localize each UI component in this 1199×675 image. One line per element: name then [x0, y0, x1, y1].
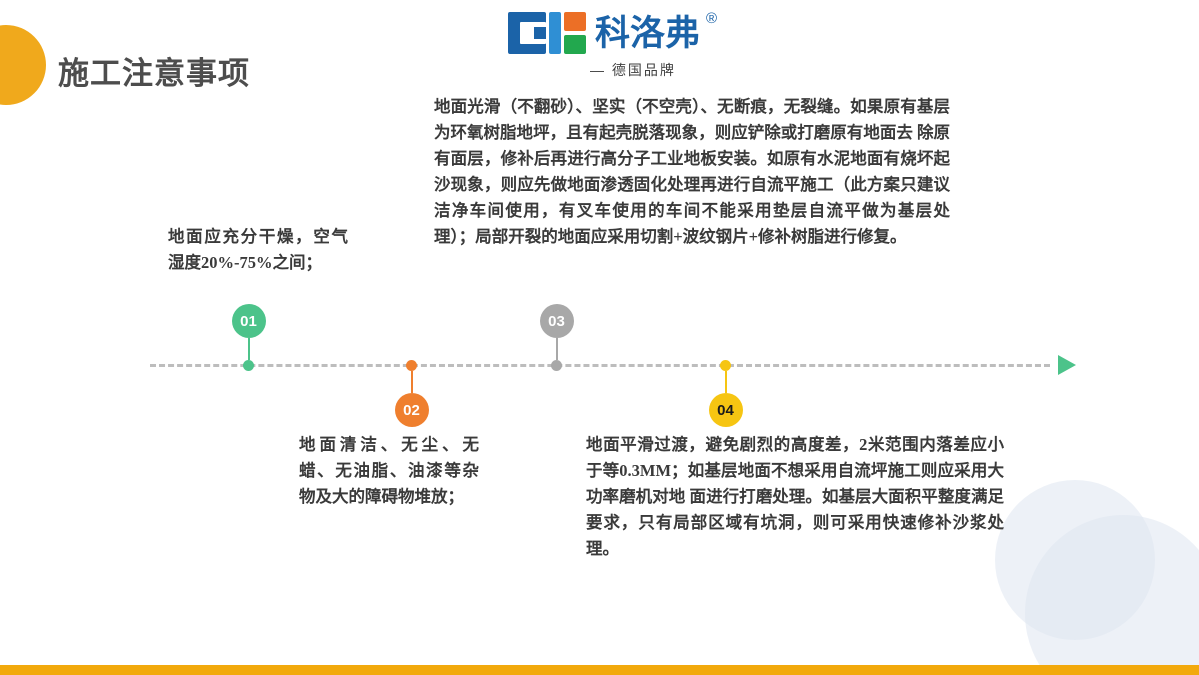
logo-square-green-icon — [564, 35, 586, 54]
timeline-node-stem-02 — [411, 371, 413, 393]
timeline-arrow-icon — [1058, 355, 1076, 375]
logo-c-tab-icon — [534, 27, 546, 39]
slide-root: 施工注意事项 科洛弗 ® — 德国品牌 地面光滑（不翻砂）、坚实（不空壳）、无断… — [0, 0, 1199, 675]
timeline-node-dot-02 — [406, 360, 417, 371]
timeline-axis — [150, 364, 1050, 367]
logo-square-orange-icon — [564, 12, 586, 31]
timeline-text-03: 地面光滑（不翻砂）、坚实（不空壳）、无断痕，无裂缝。如果原有基层为环氧树脂地坪，… — [434, 94, 950, 250]
logo-row: 科洛弗 — [508, 12, 700, 54]
timeline-text-04: 地面平滑过渡，避免剧烈的高度差，2米范围内落差应小于等0.3MM；如基层地面不想… — [586, 432, 1004, 562]
logo-subtitle: — 德国品牌 — [590, 60, 676, 80]
timeline-node-stem-03 — [556, 338, 558, 360]
registered-trademark-icon: ® — [706, 10, 717, 27]
timeline-node-stem-04 — [725, 371, 727, 393]
timeline-node-badge-03[interactable]: 03 — [540, 304, 574, 338]
brand-logo: 科洛弗 ® — 德国品牌 — [508, 8, 728, 82]
timeline-node-badge-02[interactable]: 02 — [395, 393, 429, 427]
logo-brand-name: 科洛弗 — [595, 16, 700, 51]
timeline-text-02: 地面清洁、无尘、无蜡、无油脂、油漆等杂物及大的障碍物堆放； — [299, 432, 479, 510]
timeline-node-badge-01[interactable]: 01 — [232, 304, 266, 338]
timeline-text-01: 地面应充分干燥，空气湿度20%-75%之间； — [168, 224, 348, 276]
bottom-accent-bar — [0, 665, 1199, 675]
logo-bar-icon — [549, 12, 561, 54]
page-title: 施工注意事项 — [58, 48, 250, 93]
header-accent-dot — [0, 25, 46, 105]
logo-mark-icon — [508, 12, 586, 54]
timeline-node-stem-01 — [248, 338, 250, 360]
timeline-node-badge-04[interactable]: 04 — [709, 393, 743, 427]
timeline-node-dot-04 — [720, 360, 731, 371]
timeline-node-dot-03 — [551, 360, 562, 371]
timeline-node-dot-01 — [243, 360, 254, 371]
